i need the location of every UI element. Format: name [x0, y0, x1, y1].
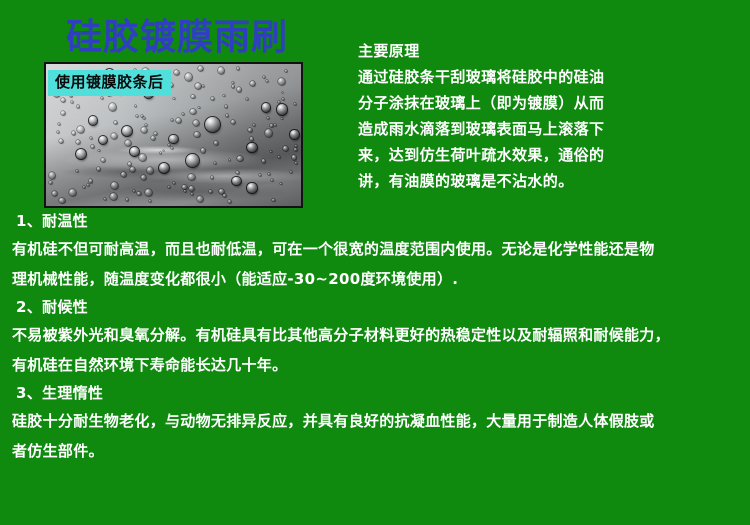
- water-droplet: [168, 186, 170, 188]
- water-droplet: [111, 133, 117, 139]
- water-droplet: [137, 192, 141, 196]
- water-droplet: [214, 162, 216, 164]
- water-droplet: [231, 120, 235, 124]
- water-droplet: [89, 179, 92, 182]
- water-droplet: [232, 82, 234, 84]
- water-droplet: [136, 115, 138, 117]
- water-droplet: [76, 140, 80, 144]
- water-droplet: [171, 147, 173, 149]
- water-droplet: [154, 132, 157, 135]
- water-droplet: [271, 179, 273, 181]
- water-droplet: [61, 111, 65, 115]
- water-droplet: [194, 132, 199, 137]
- water-droplet: [151, 136, 155, 140]
- principle-line: 通过硅胶条干刮玻璃将硅胶中的硅油: [358, 64, 746, 90]
- water-droplet: [198, 107, 200, 109]
- water-droplet: [52, 191, 58, 197]
- water-droplet: [237, 87, 241, 91]
- water-droplet: [141, 127, 147, 133]
- water-droplet: [290, 130, 299, 139]
- water-droplet: [182, 185, 186, 189]
- water-droplet: [266, 80, 268, 82]
- water-droplet: [174, 70, 179, 75]
- water-droplet: [126, 198, 129, 201]
- water-droplet: [163, 150, 165, 152]
- water-droplet: [226, 114, 228, 116]
- water-droplet: [188, 174, 195, 181]
- water-droplet: [232, 85, 235, 88]
- water-droplet: [169, 135, 177, 143]
- water-droplet: [69, 189, 77, 197]
- water-droplet: [270, 124, 273, 127]
- water-droplet: [193, 120, 199, 126]
- water-droplet: [223, 95, 225, 97]
- water-droplet: [219, 189, 224, 194]
- principle-line: 讲，有油膜的玻璃是不沾水的。: [358, 168, 746, 194]
- section-heading-3: 3、生理惰性: [0, 380, 750, 406]
- section-line: 理机械性能，随温度变化都很小（能适应-30~200度环境使用）.: [0, 264, 750, 294]
- water-droplet: [218, 67, 225, 74]
- water-droplet: [295, 145, 297, 147]
- water-droplet: [211, 176, 213, 178]
- water-droplet: [294, 103, 296, 105]
- water-droplet: [135, 105, 137, 107]
- principle-line: 来，达到仿生荷叶疏水效果，通俗的: [358, 142, 746, 168]
- water-droplet: [57, 131, 59, 133]
- water-droplet: [265, 129, 273, 137]
- water-droplet: [237, 67, 239, 69]
- water-droplet: [236, 171, 239, 174]
- water-droplet: [149, 200, 151, 202]
- water-droplet: [77, 105, 79, 107]
- water-droplet: [201, 148, 205, 152]
- water-droplet: [121, 172, 126, 177]
- water-droplet: [89, 116, 97, 124]
- principle-heading: 主要原理: [358, 38, 746, 64]
- water-droplet: [209, 190, 212, 193]
- water-droplet: [190, 109, 195, 114]
- water-droplet: [278, 156, 280, 158]
- water-droplet: [281, 118, 283, 120]
- water-droplet: [278, 101, 280, 103]
- water-droplet: [72, 131, 76, 135]
- water-droplet: [274, 124, 276, 126]
- water-droplet: [97, 167, 101, 171]
- water-droplet: [191, 95, 195, 99]
- water-droplet: [71, 101, 73, 103]
- water-droplet: [186, 154, 199, 167]
- water-droplet: [250, 81, 255, 86]
- feature-sections: 1、耐温性 有机硅不但可耐高温，而且也耐低温，可在一个很宽的温度范围内使用。无论…: [0, 208, 750, 466]
- water-droplet: [101, 97, 103, 99]
- principle-line: 分子涂抹在玻璃上（即为镀膜）从而: [358, 90, 746, 116]
- water-droplet: [272, 199, 274, 201]
- water-droplet: [145, 189, 152, 196]
- water-droplet: [159, 163, 169, 173]
- water-droplet: [246, 98, 248, 100]
- water-droplet: [90, 137, 92, 139]
- water-droplet: [191, 193, 193, 195]
- promotional-banner-page: 硅胶镀膜雨刷 使用镀膜胶条后 主要原理 通过硅胶条干刮玻璃将硅胶中的硅油 分子涂…: [0, 0, 750, 525]
- water-droplet: [182, 113, 184, 115]
- water-droplet: [247, 183, 256, 192]
- water-droplet: [292, 155, 296, 159]
- water-droplet: [49, 181, 52, 184]
- water-droplet: [173, 182, 175, 184]
- water-droplet: [283, 146, 288, 151]
- water-droplet: [295, 162, 297, 164]
- water-droplet: [202, 85, 204, 87]
- water-droplet: [49, 172, 56, 179]
- water-droplet: [211, 97, 214, 100]
- water-droplet: [282, 92, 284, 94]
- water-droplet: [139, 154, 145, 160]
- water-droplet: [109, 103, 117, 111]
- water-droplet: [198, 66, 203, 71]
- water-droplet: [76, 149, 86, 159]
- water-droplet: [189, 186, 194, 191]
- water-droplet: [228, 200, 231, 203]
- water-droplet: [141, 175, 146, 180]
- water-droplet: [214, 141, 218, 145]
- water-droplet: [237, 156, 243, 162]
- water-droplet: [267, 117, 270, 120]
- water-droplet: [133, 190, 135, 192]
- section-line: 有机硅不但可耐高温，而且也耐低温，可在一个很宽的温度范围内使用。无论是化学性能还…: [0, 234, 750, 264]
- water-droplet: [143, 117, 145, 119]
- water-droplet: [223, 194, 226, 197]
- page-title: 硅胶镀膜雨刷: [66, 16, 288, 60]
- water-droplet: [247, 143, 257, 153]
- water-droplet: [83, 186, 85, 188]
- water-droplet: [111, 182, 118, 189]
- water-droplet: [250, 137, 254, 141]
- water-droplet: [99, 136, 107, 144]
- water-droplet: [59, 139, 63, 143]
- water-droplet: [262, 159, 265, 162]
- water-droplet: [176, 118, 181, 123]
- principle-line: 造成雨水滴落到玻璃表面马上滚落下: [358, 116, 746, 142]
- water-droplet: [185, 73, 192, 80]
- section-heading-1: 1、耐温性: [0, 208, 750, 234]
- water-droplet: [290, 171, 292, 173]
- water-droplet: [128, 162, 131, 165]
- water-droplet: [130, 147, 139, 156]
- water-droplet: [294, 148, 297, 151]
- section-line: 不易被紫外光和臭氧分解。有机硅具有比其他高分子材料更好的热稳定性以及耐辐照和耐候…: [0, 320, 750, 350]
- section-line: 者仿生部件。: [0, 436, 750, 466]
- water-droplet: [87, 184, 89, 186]
- section-line: 硅胶十分耐生物老化，与动物无排异反应，并具有良好的抗凝血性能，大量用于制造人体假…: [0, 406, 750, 436]
- principle-text-block: 主要原理 通过硅胶条干刮玻璃将硅胶中的硅油 分子涂抹在玻璃上（即为镀膜）从而 造…: [358, 38, 746, 194]
- water-droplet: [197, 196, 203, 202]
- water-droplet: [259, 174, 261, 176]
- water-droplet: [229, 159, 231, 161]
- water-droplet: [282, 98, 284, 100]
- water-droplet: [77, 126, 84, 133]
- water-droplet: [122, 126, 132, 136]
- water-droplet: [225, 105, 227, 107]
- water-droplet: [277, 104, 287, 114]
- water-droplet: [171, 119, 173, 121]
- water-droplet: [160, 152, 162, 154]
- water-droplet: [61, 98, 65, 102]
- photo-caption-badge: 使用镀膜胶条后: [48, 70, 171, 96]
- water-droplet: [263, 76, 265, 78]
- water-droplet: [262, 103, 271, 112]
- section-line: 有机硅在自然环境下寿命能长达几十年。: [0, 350, 750, 380]
- water-droplet: [278, 78, 286, 86]
- water-droplet: [205, 117, 220, 132]
- section-heading-2: 2、耐候性: [0, 294, 750, 320]
- water-droplet: [130, 167, 135, 172]
- water-droplet: [101, 158, 105, 162]
- water-droplet: [104, 198, 106, 200]
- water-droplet: [145, 124, 147, 126]
- water-droplet: [248, 128, 252, 132]
- water-droplet: [98, 150, 100, 152]
- water-droplet: [280, 183, 282, 185]
- water-droplet: [268, 173, 270, 175]
- water-droplet: [110, 193, 116, 199]
- water-droplet: [168, 144, 170, 146]
- water-droplet: [285, 70, 287, 72]
- water-droplet: [91, 145, 94, 148]
- water-droplet: [114, 121, 117, 124]
- water-droplet: [76, 170, 78, 172]
- water-droplet: [184, 190, 186, 192]
- water-droplet: [59, 198, 64, 203]
- water-droplet: [253, 124, 255, 126]
- water-droplet: [173, 98, 175, 100]
- water-droplet: [232, 177, 240, 185]
- water-droplet: [58, 123, 60, 125]
- water-droplet: [195, 83, 201, 89]
- water-droplet: [125, 140, 131, 146]
- water-droplet: [147, 167, 153, 173]
- water-droplet: [270, 151, 272, 153]
